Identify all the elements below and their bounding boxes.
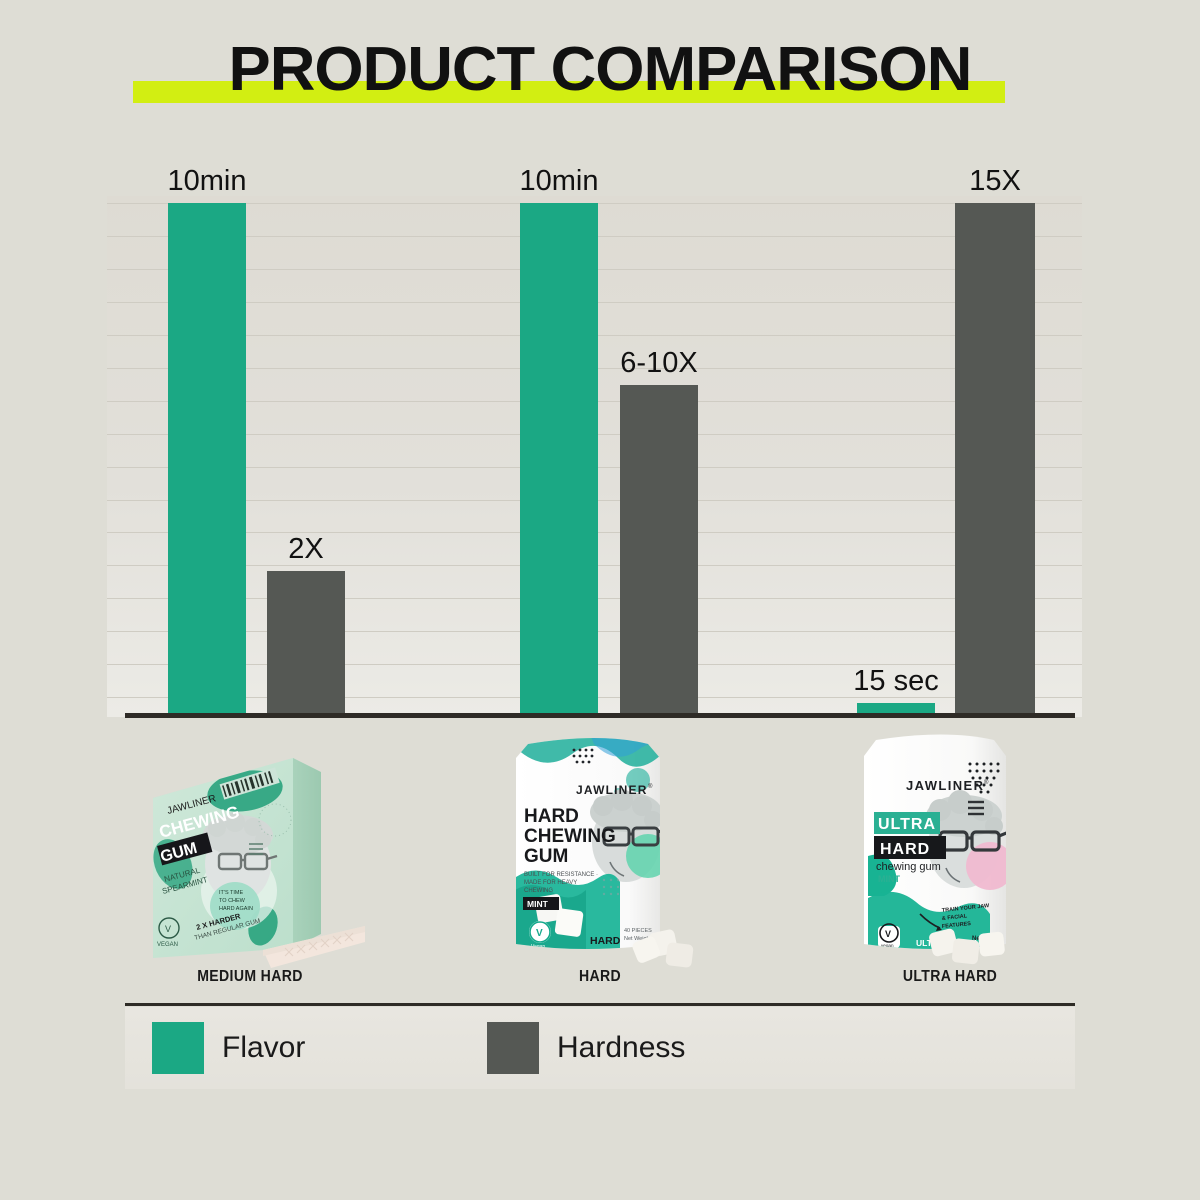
- product-label-ultra-hard: ULTRA HARD: [809, 968, 1091, 986]
- product-image-hard: JAWLINER ® HARD CHEWING GUM BUILT FOR RE…: [498, 730, 703, 968]
- chart-bar-label-hard-flavor: 10min: [480, 165, 638, 198]
- legend-label-flavor: Flavor: [222, 1031, 305, 1065]
- svg-text:®: ®: [648, 783, 653, 790]
- legend-divider: [125, 1003, 1075, 1006]
- svg-text:Vegan: Vegan: [531, 944, 545, 950]
- svg-text:TO CHEW: TO CHEW: [219, 898, 246, 904]
- chart-bar-label-ultra-hard-flavor: 15 sec: [817, 665, 975, 698]
- svg-text:V: V: [165, 924, 171, 934]
- legend-swatch-flavor: [152, 1022, 204, 1074]
- svg-text:VEGAN: VEGAN: [157, 942, 178, 948]
- chart-x-axis: [125, 713, 1075, 718]
- svg-text:chewing gum: chewing gum: [876, 861, 941, 873]
- chart-bar-label-medium-hard-hardness: 2X: [227, 533, 385, 566]
- product-image-ultra-hard: JAWLINER ® ULTRA HARD chewing gum MINT T…: [850, 728, 1050, 966]
- svg-text:MINT: MINT: [527, 899, 549, 909]
- svg-text:HARD AGAIN: HARD AGAIN: [219, 906, 253, 912]
- product-images-row: JAWLINER CHEWING GUM GUM NATURAL SPEARMI…: [0, 728, 1200, 978]
- product-label-hard: HARD: [459, 968, 741, 986]
- svg-text:HARD: HARD: [524, 806, 579, 827]
- svg-text:V: V: [536, 928, 543, 939]
- chart-bar-label-hard-hardness: 6-10X: [580, 347, 738, 380]
- product-image-medium-hard: JAWLINER CHEWING GUM GUM NATURAL SPEARMI…: [135, 736, 365, 968]
- chart-bar-medium-hard-flavor: [168, 203, 246, 714]
- svg-text:HARD: HARD: [880, 841, 930, 858]
- svg-text:ULTRA: ULTRA: [878, 816, 936, 833]
- product-card-ultra-hard[interactable]: JAWLINER ® ULTRA HARD chewing gum MINT T…: [790, 728, 1110, 978]
- svg-text:GUM: GUM: [524, 846, 568, 867]
- svg-text:HARD: HARD: [590, 935, 621, 947]
- svg-text:vegan: vegan: [881, 943, 894, 948]
- chart-bar-hard-hardness: [620, 385, 698, 714]
- chart-bar-ultra-hard-hardness: [955, 203, 1035, 714]
- svg-text:®: ®: [984, 779, 989, 786]
- svg-text:CHEWING: CHEWING: [524, 826, 616, 847]
- product-card-medium-hard[interactable]: JAWLINER CHEWING GUM GUM NATURAL SPEARMI…: [90, 728, 410, 978]
- chart-bar-label-medium-hard-flavor: 10min: [128, 165, 286, 198]
- page-title-block: PRODUCT COMPARISON: [0, 38, 1200, 118]
- svg-text:V: V: [885, 929, 891, 939]
- svg-text:IT'S TIME: IT'S TIME: [219, 890, 244, 896]
- product-comparison-infographic: PRODUCT COMPARISON 10min2X10min6-10X15 s…: [0, 0, 1200, 1200]
- product-card-hard[interactable]: JAWLINER ® HARD CHEWING GUM BUILT FOR RE…: [440, 728, 760, 978]
- chart-bars-layer: 10min2X10min6-10X15 sec15X: [0, 196, 1200, 717]
- chart-bar-hard-flavor: [520, 203, 598, 714]
- page-title: PRODUCT COMPARISON: [0, 38, 1200, 102]
- svg-text:CHEWING: CHEWING: [524, 888, 553, 894]
- chart-bar-label-ultra-hard-hardness: 15X: [915, 165, 1075, 198]
- svg-text:MADE FOR HEAVY: MADE FOR HEAVY: [524, 880, 577, 886]
- svg-text:JAWLINER: JAWLINER: [906, 778, 984, 793]
- svg-text:MINT: MINT: [878, 874, 900, 884]
- svg-text:40 PIECES: 40 PIECES: [624, 928, 652, 934]
- svg-text:JAWLINER: JAWLINER: [576, 783, 648, 797]
- chart-bar-medium-hard-hardness: [267, 571, 345, 714]
- svg-text:BUILT FOR RESISTANCE ·: BUILT FOR RESISTANCE ·: [524, 872, 598, 878]
- product-label-medium-hard: MEDIUM HARD: [109, 968, 391, 986]
- legend-swatch-hardness: [487, 1022, 539, 1074]
- legend-label-hardness: Hardness: [557, 1031, 685, 1065]
